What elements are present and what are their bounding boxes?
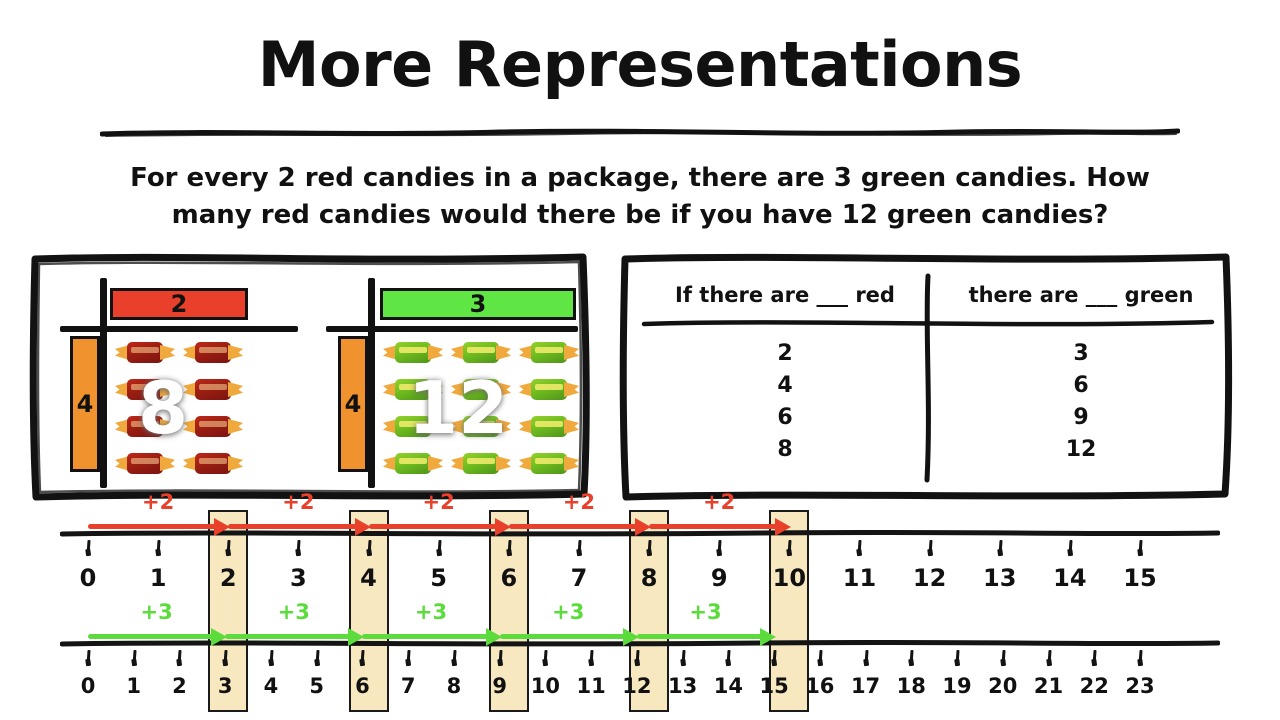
tick-mark xyxy=(157,540,161,556)
tick-mark xyxy=(577,540,581,556)
tick-mark xyxy=(407,650,411,666)
number-line-label: 10 xyxy=(773,564,806,592)
tick-mark xyxy=(590,650,594,666)
tick-mark xyxy=(367,540,371,556)
number-line-label: 2 xyxy=(172,674,187,698)
candy-red xyxy=(182,336,244,370)
number-line-label: 16 xyxy=(805,674,834,698)
table-cell-red: 4 xyxy=(646,370,924,402)
tick-mark xyxy=(1068,540,1072,556)
title-divider xyxy=(100,124,1180,133)
tick-mark xyxy=(635,650,639,666)
candy-red xyxy=(114,447,176,481)
table-cell-red: 8 xyxy=(646,434,924,466)
jump-label: +2 xyxy=(142,490,174,514)
candy-red xyxy=(182,447,244,481)
green-candy-model: 3 4 xyxy=(308,252,586,500)
red-model-horizontal-axis xyxy=(60,326,298,332)
candy-red xyxy=(114,410,176,444)
jump-arrow-head xyxy=(760,628,776,646)
green-rows-bar: 4 xyxy=(338,336,368,472)
tick-mark xyxy=(998,540,1002,556)
tick-mark xyxy=(858,540,862,556)
tick-mark xyxy=(773,650,777,666)
jump-arrow-shaft xyxy=(500,634,625,639)
number-line-label: 1 xyxy=(126,674,141,698)
number-line-label: 13 xyxy=(983,564,1016,592)
number-line-label: 23 xyxy=(1125,674,1154,698)
tick-mark xyxy=(910,650,914,666)
number-line-label: 12 xyxy=(913,564,946,592)
number-line-label: 15 xyxy=(759,674,788,698)
jump-arrow xyxy=(225,628,362,646)
tick-mark xyxy=(544,650,548,666)
candy-green xyxy=(450,373,512,407)
table-header-green: there are ___ green xyxy=(940,278,1222,312)
candy-green xyxy=(382,410,444,444)
tick-mark xyxy=(297,540,301,556)
number-line-label: 0 xyxy=(80,564,97,592)
red-count-bar: 2 xyxy=(110,288,248,320)
tick-mark xyxy=(498,650,502,666)
candy-red xyxy=(114,336,176,370)
green-model-vertical-axis xyxy=(368,278,375,488)
jump-label: +2 xyxy=(282,490,314,514)
tick-mark xyxy=(452,650,456,666)
number-line-label: 20 xyxy=(988,674,1017,698)
jump-label: +3 xyxy=(689,600,721,624)
green-count-bar: 3 xyxy=(380,288,576,320)
number-line-label: 22 xyxy=(1080,674,1109,698)
jump-arrow xyxy=(637,628,774,646)
jump-label: +2 xyxy=(703,490,735,514)
number-line-label: 6 xyxy=(500,564,517,592)
jump-arrow-head xyxy=(775,518,791,536)
tick-mark xyxy=(718,540,722,556)
number-line-label: 19 xyxy=(942,674,971,698)
candy-green xyxy=(382,373,444,407)
number-line-label: 4 xyxy=(264,674,279,698)
number-line-label: 13 xyxy=(668,674,697,698)
red-candy-model: 2 4 xyxy=(38,252,306,500)
number-line-label: 12 xyxy=(622,674,651,698)
tick-mark xyxy=(86,650,90,666)
number-line-label: 9 xyxy=(711,564,728,592)
tick-mark xyxy=(1047,650,1051,666)
jump-arrow-shaft xyxy=(228,524,356,529)
tick-mark xyxy=(818,650,822,666)
problem-statement: For every 2 red candies in a package, th… xyxy=(88,160,1192,234)
jump-arrow-shaft xyxy=(649,524,777,529)
candy-green xyxy=(518,373,580,407)
green-model-horizontal-axis xyxy=(326,326,578,332)
table-header-red: If there are ___ red xyxy=(646,278,924,312)
tick-mark xyxy=(86,540,90,556)
candy-green xyxy=(518,336,580,370)
number-line-label: 3 xyxy=(218,674,233,698)
tick-mark xyxy=(437,540,441,556)
table-cell-green: 9 xyxy=(940,402,1222,434)
number-line-label: 2 xyxy=(220,564,237,592)
table-cell-green: 6 xyxy=(940,370,1222,402)
tick-mark xyxy=(224,650,228,666)
jump-arrow-shaft xyxy=(225,634,350,639)
jump-arrow-shaft xyxy=(88,634,213,639)
jump-arrow xyxy=(500,628,637,646)
number-line-label: 6 xyxy=(355,674,370,698)
jump-arrow-shaft xyxy=(509,524,637,529)
number-line-label: 14 xyxy=(1053,564,1086,592)
slide-canvas: More Representations For every 2 red can… xyxy=(0,0,1280,720)
jump-arrow xyxy=(228,518,368,536)
number-line-label: 1 xyxy=(150,564,167,592)
number-line-label: 7 xyxy=(571,564,588,592)
tick-mark xyxy=(1093,650,1097,666)
number-line-label: 17 xyxy=(851,674,880,698)
jump-label: +2 xyxy=(423,490,455,514)
candy-red xyxy=(182,410,244,444)
table-cell-green: 12 xyxy=(940,434,1222,466)
tick-mark xyxy=(681,650,685,666)
jump-arrow xyxy=(88,628,225,646)
page-title: More Representations xyxy=(0,28,1280,101)
jump-arrow xyxy=(509,518,649,536)
number-line-label: 11 xyxy=(843,564,876,592)
table-column-green: 36912 xyxy=(940,338,1222,466)
tick-mark xyxy=(788,540,792,556)
tick-mark xyxy=(132,650,136,666)
number-line-label: 3 xyxy=(290,564,307,592)
jump-arrow-shaft xyxy=(637,634,762,639)
candy-green xyxy=(450,447,512,481)
table-cell-red: 6 xyxy=(646,402,924,434)
tick-mark xyxy=(269,650,273,666)
candy-red xyxy=(182,373,244,407)
candy-green xyxy=(518,410,580,444)
tick-mark xyxy=(178,650,182,666)
green-candy-grid xyxy=(382,336,580,481)
number-line-label: 9 xyxy=(492,674,507,698)
number-line-label: 15 xyxy=(1123,564,1156,592)
jump-label: +2 xyxy=(563,490,595,514)
jump-arrow xyxy=(369,518,509,536)
red-rows-bar: 4 xyxy=(70,336,100,472)
table-cell-red: 2 xyxy=(646,338,924,370)
jump-arrow-shaft xyxy=(88,524,216,529)
number-line-label: 18 xyxy=(897,674,926,698)
jump-label: +3 xyxy=(278,600,310,624)
tick-mark xyxy=(227,540,231,556)
number-line-label: 5 xyxy=(309,674,324,698)
number-line-label: 0 xyxy=(81,674,96,698)
jump-arrow-shaft xyxy=(362,634,487,639)
jump-arrow xyxy=(649,518,789,536)
number-line-label: 5 xyxy=(430,564,447,592)
number-line-label: 10 xyxy=(531,674,560,698)
jump-arrow xyxy=(362,628,499,646)
tick-mark xyxy=(864,650,868,666)
number-line-label: 11 xyxy=(577,674,606,698)
double-number-line: 0123456789101112131415 +2+2+2+2+2 012345… xyxy=(0,500,1280,720)
jump-label: +3 xyxy=(140,600,172,624)
jump-arrow xyxy=(88,518,228,536)
tick-mark xyxy=(928,540,932,556)
tick-mark xyxy=(507,540,511,556)
tick-mark xyxy=(1001,650,1005,666)
number-line-label: 14 xyxy=(714,674,743,698)
tick-mark xyxy=(361,650,365,666)
tick-mark xyxy=(955,650,959,666)
tick-mark xyxy=(1138,650,1142,666)
tick-mark xyxy=(727,650,731,666)
candy-red xyxy=(114,373,176,407)
number-line-label: 21 xyxy=(1034,674,1063,698)
number-line-label: 7 xyxy=(401,674,416,698)
red-candy-grid xyxy=(114,336,244,481)
number-line-label: 8 xyxy=(641,564,658,592)
table-cell-green: 3 xyxy=(940,338,1222,370)
number-line-label: 4 xyxy=(360,564,377,592)
number-line-red: 0123456789101112131415 +2+2+2+2+2 xyxy=(0,530,1280,610)
jump-label: +3 xyxy=(552,600,584,624)
ratio-table-panel: If there are ___ red there are ___ green… xyxy=(620,252,1232,500)
candy-green xyxy=(450,410,512,444)
jump-arrow-shaft xyxy=(369,524,497,529)
tick-mark xyxy=(315,650,319,666)
tick-mark xyxy=(648,540,652,556)
table-column-red: 2468 xyxy=(646,338,924,466)
number-line-green: 01234567891011121314151617181920212223 +… xyxy=(0,640,1280,720)
candy-green xyxy=(450,336,512,370)
candy-green xyxy=(518,447,580,481)
candy-green xyxy=(382,447,444,481)
red-model-vertical-axis xyxy=(100,278,107,488)
tick-mark xyxy=(1138,540,1142,556)
number-line-label: 8 xyxy=(447,674,462,698)
jump-label: +3 xyxy=(415,600,447,624)
array-models-panel: 2 4 3 4 xyxy=(30,252,590,500)
candy-green xyxy=(382,336,444,370)
